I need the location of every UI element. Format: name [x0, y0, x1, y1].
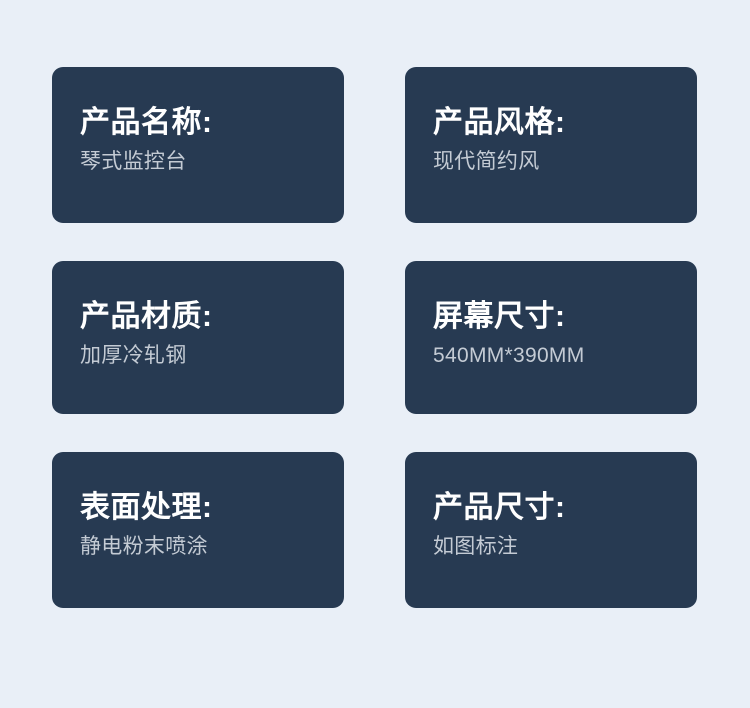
spec-card-title: 产品材质:	[80, 299, 316, 335]
spec-card-value: 琴式监控台	[80, 149, 316, 175]
spec-card-value: 静电粉末喷涂	[80, 534, 316, 560]
spec-card-title: 表面处理:	[80, 490, 316, 526]
spec-card-title: 产品名称:	[80, 105, 316, 141]
spec-card-product-size: 产品尺寸: 如图标注	[405, 452, 697, 608]
spec-card-surface-treatment: 表面处理: 静电粉末喷涂	[52, 452, 344, 608]
product-spec-board: 产品名称: 琴式监控台 产品风格: 现代简约风 产品材质: 加厚冷轧钢 屏幕尺寸…	[0, 0, 750, 708]
spec-card-product-style: 产品风格: 现代简约风	[405, 67, 697, 223]
spec-card-title: 产品尺寸:	[433, 490, 669, 526]
spec-card-value: 540MM*390MM	[433, 343, 669, 369]
spec-card-product-name: 产品名称: 琴式监控台	[52, 67, 344, 223]
spec-card-value: 加厚冷轧钢	[80, 343, 316, 369]
spec-card-grid: 产品名称: 琴式监控台 产品风格: 现代简约风 产品材质: 加厚冷轧钢 屏幕尺寸…	[52, 67, 698, 608]
spec-card-product-material: 产品材质: 加厚冷轧钢	[52, 261, 344, 414]
spec-card-title: 屏幕尺寸:	[433, 299, 669, 335]
spec-card-value: 如图标注	[433, 534, 669, 560]
spec-card-title: 产品风格:	[433, 105, 669, 141]
spec-card-value: 现代简约风	[433, 149, 669, 175]
spec-card-screen-size: 屏幕尺寸: 540MM*390MM	[405, 261, 697, 414]
